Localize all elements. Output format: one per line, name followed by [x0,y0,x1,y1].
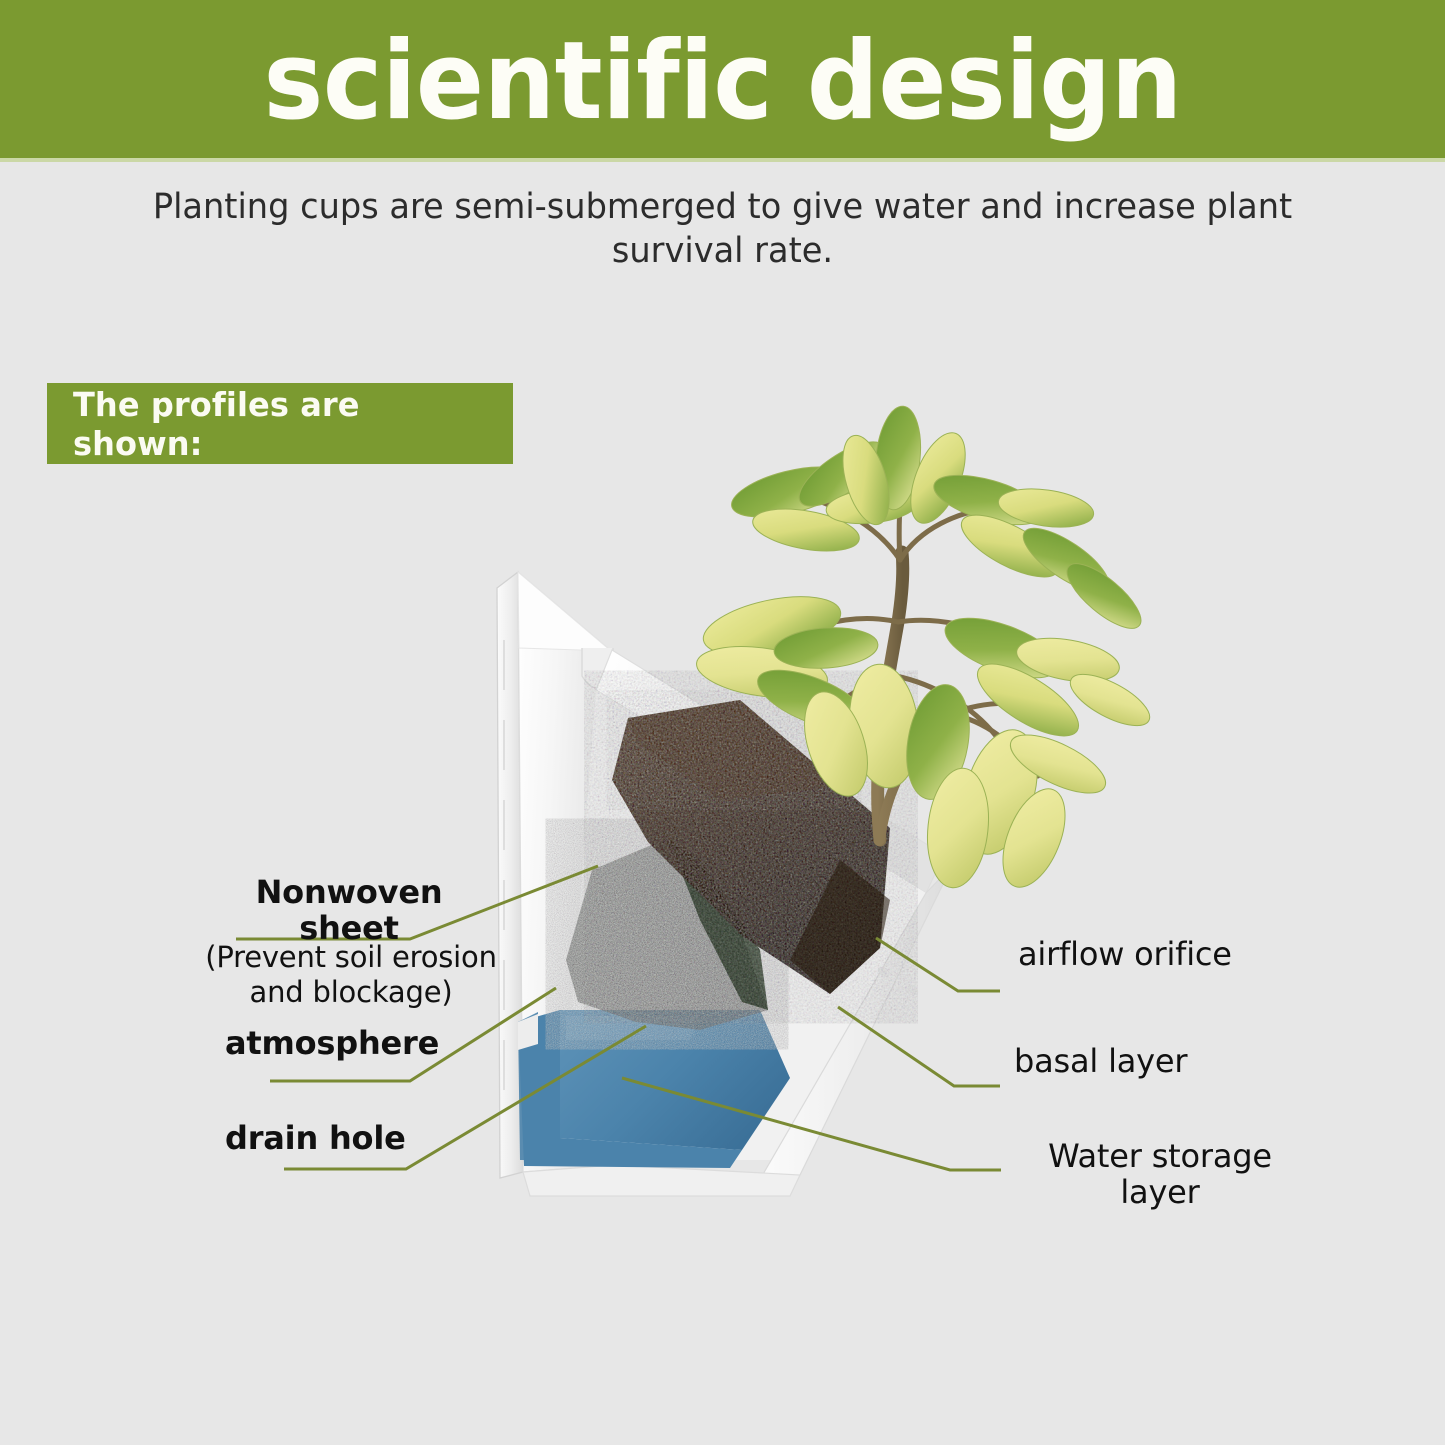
leader-line-basal [838,1007,1000,1086]
nonwoven-sheet [566,838,768,1030]
hanging-notch [582,648,613,688]
planter-base [523,1165,800,1196]
subtitle-text: Planting cups are semi-submerged to give… [135,185,1311,274]
planter-front-wall [762,866,952,1176]
soil-block [612,700,890,994]
planter-inner-cavity [560,690,926,1160]
planter-top-bevel [518,572,611,651]
page-title: scientific design [263,28,1181,136]
header-divider [0,158,1445,162]
label-drain-hole: drain hole [225,1120,525,1156]
planter-body [497,572,952,1196]
label-airflow-orifice: airflow orifice [1018,936,1348,972]
label-nonwoven-note: (Prevent soil erosion and blockage) [186,940,516,1010]
planter-top-rim [596,650,944,893]
label-nonwoven-sheet: Nonwoven sheet [233,874,465,947]
plant-trunk [878,552,903,840]
plant-leaves [693,404,1157,896]
airflow-orifice [792,911,920,997]
plant-petioles [796,474,1056,776]
planter-back-edge [497,572,523,1178]
water-storage-layer [518,1010,790,1168]
water-body [560,1010,790,1150]
profiles-callout-box: The profiles are shown: [47,383,513,464]
label-water-storage: Water storage layer [1010,1138,1310,1211]
leader-line-water-storage [622,1078,1001,1170]
header-banner: scientific design [0,0,1445,158]
label-basal-layer: basal layer [1014,1043,1344,1079]
plant [693,404,1157,896]
label-atmosphere: atmosphere [225,1025,555,1061]
leader-line-airflow [876,938,1000,991]
planter-back-panel [518,572,614,1172]
profiles-callout-label: The profiles are shown: [73,385,500,463]
